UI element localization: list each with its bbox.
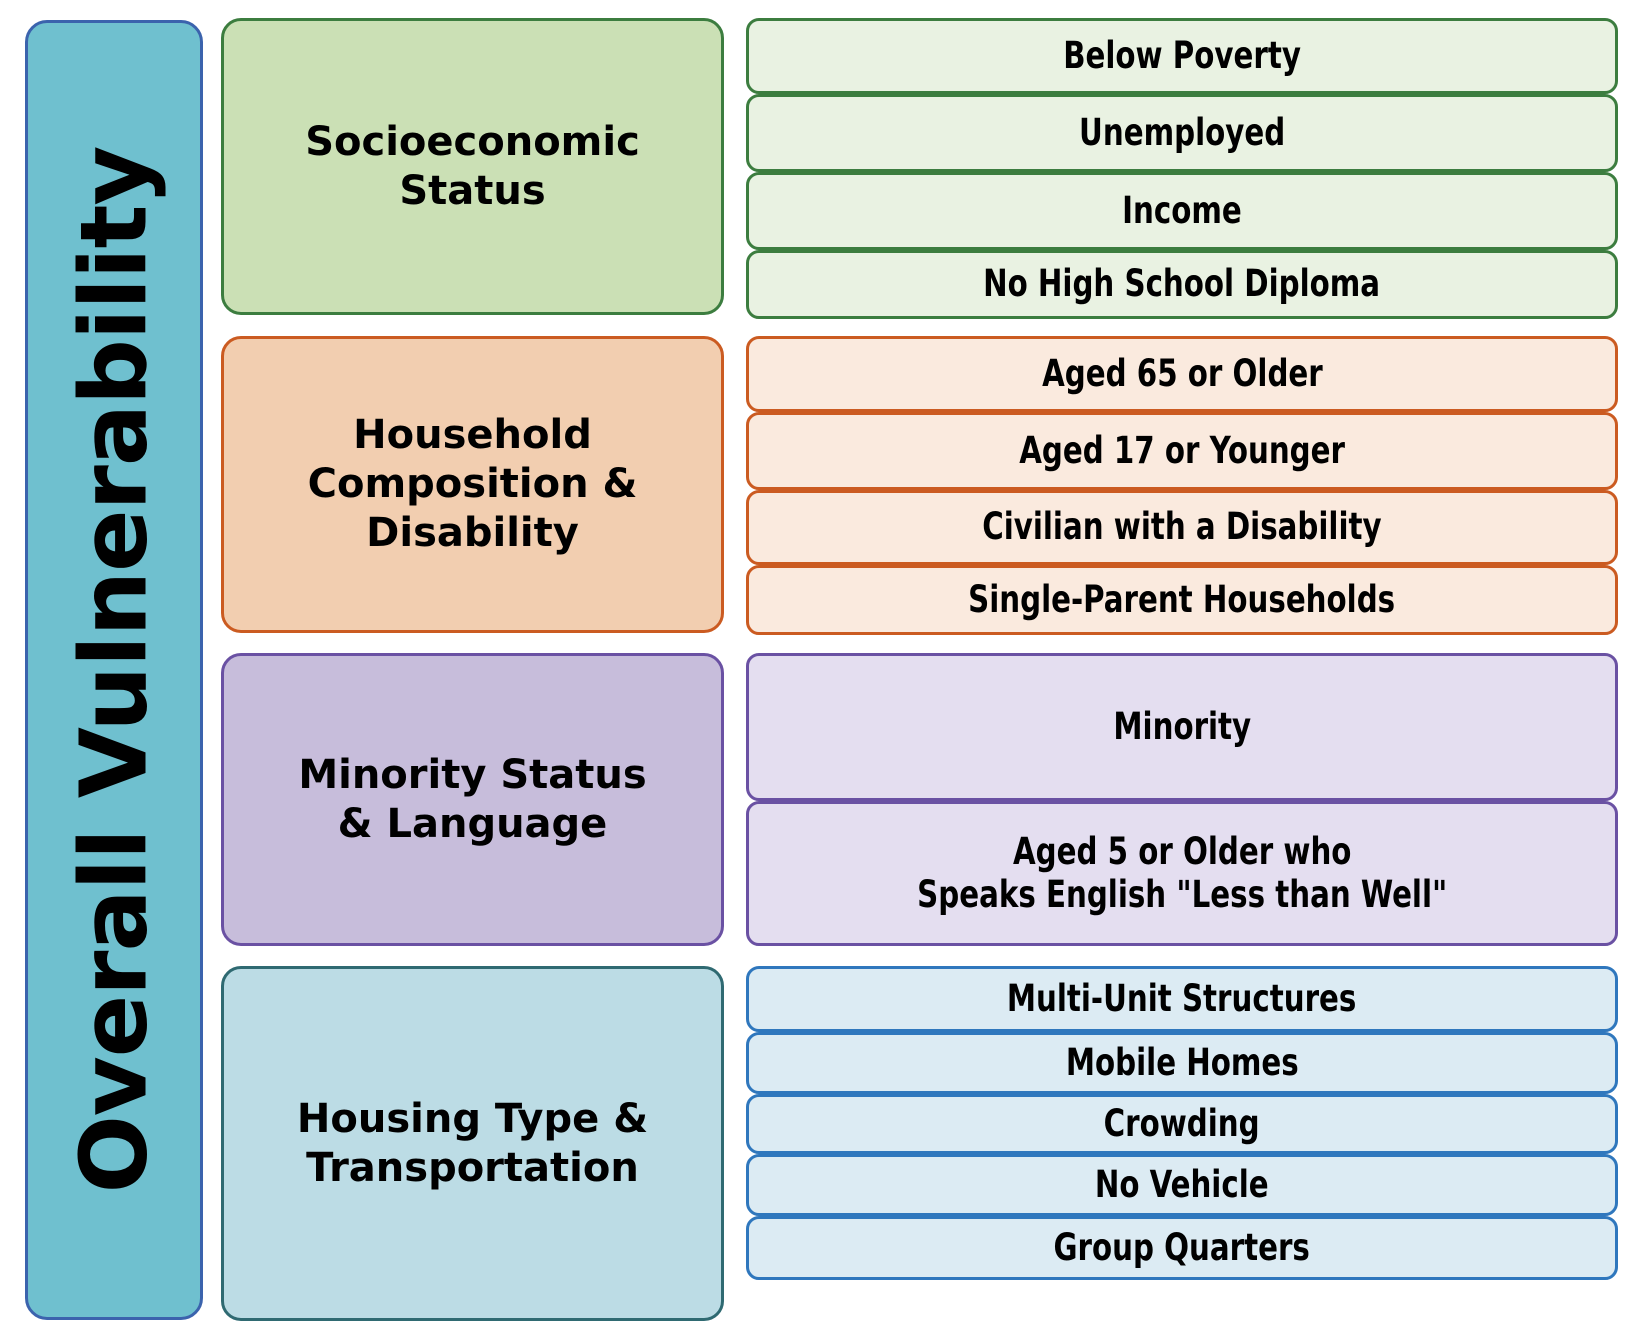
category-label-socioeconomic-status: Socioeconomic Status — [305, 118, 640, 216]
variable-label: Crowding — [1104, 1103, 1260, 1146]
variable-label: Group Quarters — [1054, 1227, 1310, 1270]
category-box-minority-status-language[interactable]: Minority Status & Language — [221, 653, 724, 946]
variable-box[interactable]: Civilian with a Disability — [746, 490, 1618, 565]
category-box-housing-type-transportation[interactable]: Housing Type & Transportation — [221, 966, 724, 1321]
variable-box[interactable]: Income — [746, 172, 1618, 250]
variable-label: Multi-Unit Structures — [1007, 978, 1357, 1021]
variable-box[interactable]: No High School Diploma — [746, 250, 1618, 319]
variable-column: Below Poverty Unemployed Income No High … — [746, 0, 1622, 1340]
variable-label: No Vehicle — [1095, 1164, 1269, 1207]
variable-label: Below Poverty — [1063, 35, 1301, 78]
variable-box[interactable]: Unemployed — [746, 94, 1618, 172]
variable-box[interactable]: Aged 5 or Older who Speaks English "Less… — [746, 801, 1618, 946]
category-label-household-composition-disability: Household Composition & Disability — [308, 411, 638, 557]
category-box-household-composition-disability[interactable]: Household Composition & Disability — [221, 336, 724, 633]
variable-box[interactable]: Multi-Unit Structures — [746, 966, 1618, 1032]
variable-box[interactable]: Aged 65 or Older — [746, 336, 1618, 412]
variable-label: Civilian with a Disability — [982, 506, 1381, 549]
variable-label: Minority — [1113, 706, 1251, 749]
variable-label: Income — [1122, 190, 1242, 233]
category-column: Socioeconomic Status Household Compositi… — [221, 0, 724, 1340]
variable-box[interactable]: Single-Parent Households — [746, 565, 1618, 635]
variable-box[interactable]: Mobile Homes — [746, 1032, 1618, 1094]
category-box-socioeconomic-status[interactable]: Socioeconomic Status — [221, 18, 724, 315]
variable-label: Unemployed — [1079, 112, 1285, 155]
variable-box[interactable]: Group Quarters — [746, 1216, 1618, 1280]
category-label-housing-type-transportation: Housing Type & Transportation — [297, 1095, 648, 1193]
variable-label: No High School Diploma — [984, 263, 1381, 306]
variable-box[interactable]: No Vehicle — [746, 1154, 1618, 1216]
svi-theme-diagram: Overall Vulnerability Socioeconomic Stat… — [0, 0, 1640, 1340]
variable-label: Aged 65 or Older — [1042, 353, 1323, 396]
variable-box[interactable]: Below Poverty — [746, 18, 1618, 94]
variable-box[interactable]: Minority — [746, 653, 1618, 801]
variable-label: Aged 5 or Older who Speaks English "Less… — [917, 831, 1447, 916]
variable-box[interactable]: Aged 17 or Younger — [746, 412, 1618, 490]
variable-label: Mobile Homes — [1066, 1042, 1299, 1085]
variable-box[interactable]: Crowding — [746, 1094, 1618, 1154]
variable-label: Single-Parent Households — [968, 579, 1395, 622]
overall-vulnerability-bar[interactable]: Overall Vulnerability — [25, 20, 203, 1320]
variable-label: Aged 17 or Younger — [1019, 430, 1345, 473]
category-label-minority-status-language: Minority Status & Language — [298, 751, 646, 849]
overall-vulnerability-label: Overall Vulnerability — [68, 147, 160, 1194]
